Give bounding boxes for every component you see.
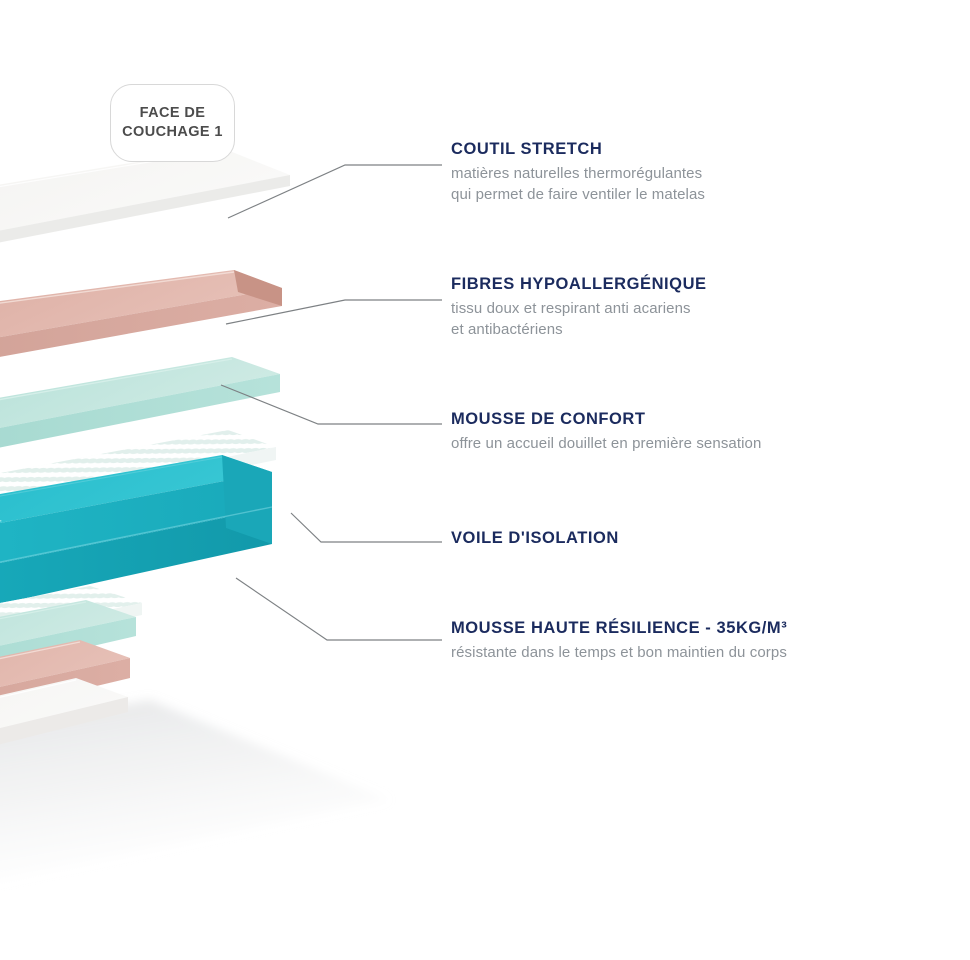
face-de-couchage-badge: FACE DE COUCHAGE 1 bbox=[110, 84, 235, 162]
mattress-layers-infographic: FACE DE COUCHAGE 1 COUTIL STRETCH matièr… bbox=[0, 0, 970, 960]
callout-description: matières naturelles thermorégulantes qui… bbox=[451, 163, 705, 206]
callout-mousse-de-confort: MOUSSE DE CONFORT offre un accueil douil… bbox=[451, 409, 761, 454]
callout-title: FIBRES HYPOALLERGÉNIQUE bbox=[451, 274, 707, 295]
callout-coutil-stretch: COUTIL STRETCH matières naturelles therm… bbox=[451, 139, 705, 205]
callout-mousse-haute-resilience: MOUSSE HAUTE RÉSILIENCE - 35kg/m³ résist… bbox=[451, 618, 787, 663]
callout-description: résistante dans le temps et bon maintien… bbox=[451, 642, 787, 663]
callout-fibres-hypoallergenique: FIBRES HYPOALLERGÉNIQUE tissu doux et re… bbox=[451, 274, 707, 340]
callout-title: MOUSSE HAUTE RÉSILIENCE - 35kg/m³ bbox=[451, 618, 787, 639]
badge-label: FACE DE COUCHAGE 1 bbox=[122, 104, 223, 142]
callout-description: offre un accueil douillet en première se… bbox=[451, 433, 761, 454]
callout-title: COUTIL STRETCH bbox=[451, 139, 705, 160]
callout-voile-d-isolation: VOILE D'ISOLATION bbox=[451, 528, 619, 552]
callout-description: tissu doux et respirant anti acariens et… bbox=[451, 298, 707, 341]
stack-drop-shadow bbox=[0, 700, 390, 930]
callout-title: MOUSSE DE CONFORT bbox=[451, 409, 761, 430]
callout-title: VOILE D'ISOLATION bbox=[451, 528, 619, 549]
